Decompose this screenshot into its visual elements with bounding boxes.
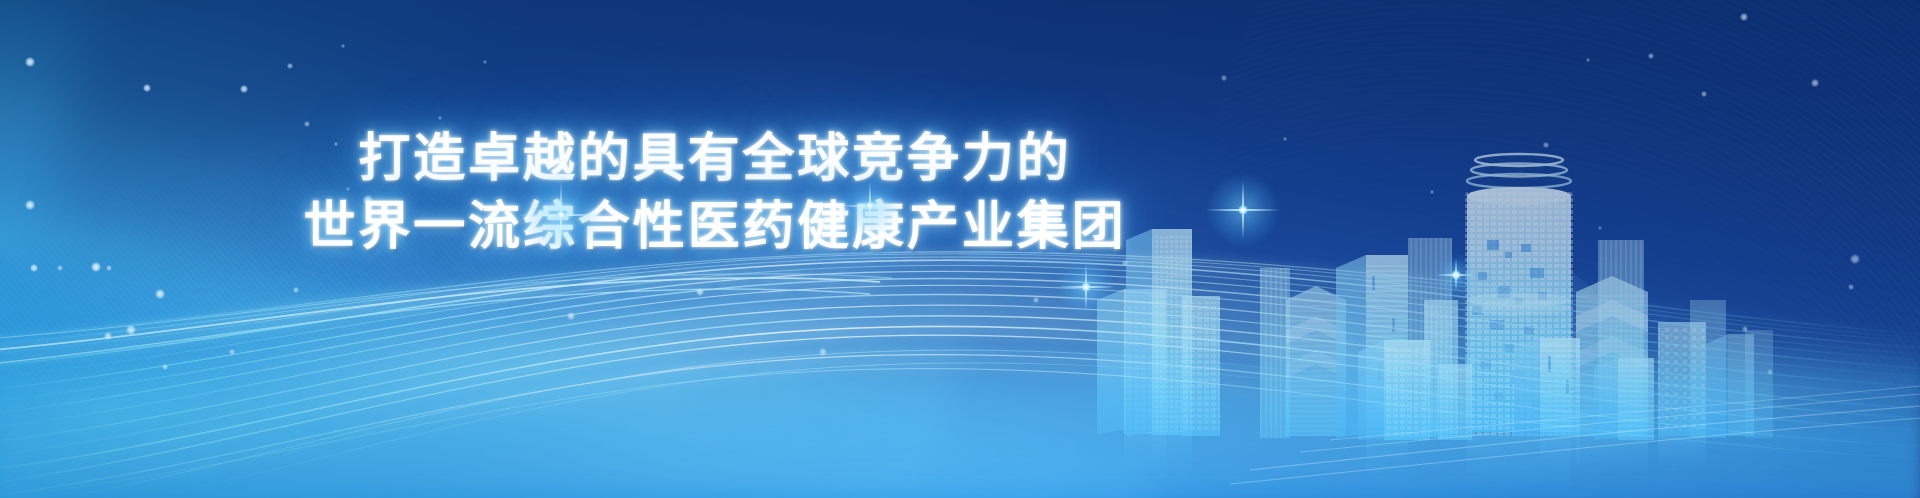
headline-line-1: 打造卓越的具有全球竞争力的 bbox=[0, 126, 1430, 194]
hero-banner: 打造卓越的具有全球竞争力的 世界一流综合性医药健康产业集团 bbox=[0, 0, 1920, 498]
headline-block: 打造卓越的具有全球竞争力的 世界一流综合性医药健康产业集团 bbox=[0, 126, 1430, 262]
water-reflection-plane bbox=[0, 333, 1920, 498]
headline-line-2: 世界一流综合性医药健康产业集团 bbox=[0, 194, 1430, 262]
